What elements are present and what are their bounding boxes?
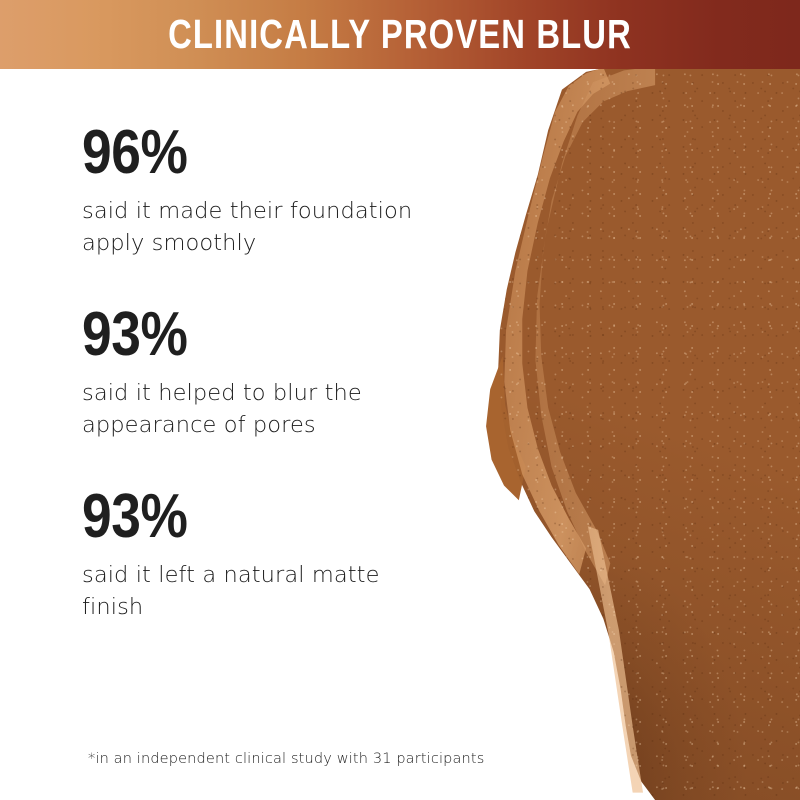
claims-list: 96% said it made their foundation apply … [82, 122, 462, 668]
foundation-swatch-image [455, 60, 800, 800]
study-footnote: *in an independent clinical study with 3… [88, 750, 484, 769]
stat-description: said it left a natural matte finish [82, 560, 442, 624]
stat-description: said it made their foundation apply smoo… [82, 196, 442, 260]
stat-description: said it helped to blur the appearance of… [82, 378, 442, 442]
header-banner: CLINICALLY PROVEN BLUR [0, 0, 800, 69]
swatch-matte-texture [455, 60, 800, 800]
stat-item: 93% said it left a natural matte finish [82, 486, 462, 624]
stat-percentage: 96% [82, 122, 409, 184]
stat-item: 93% said it helped to blur the appearanc… [82, 304, 462, 442]
stat-percentage: 93% [82, 304, 409, 366]
stat-item: 96% said it made their foundation apply … [82, 122, 462, 260]
stat-percentage: 93% [82, 486, 409, 548]
page-title: CLINICALLY PROVEN BLUR [80, 0, 720, 69]
product-claims-graphic: CLINICALLY PROVEN BLUR 96% said it made … [0, 0, 800, 800]
